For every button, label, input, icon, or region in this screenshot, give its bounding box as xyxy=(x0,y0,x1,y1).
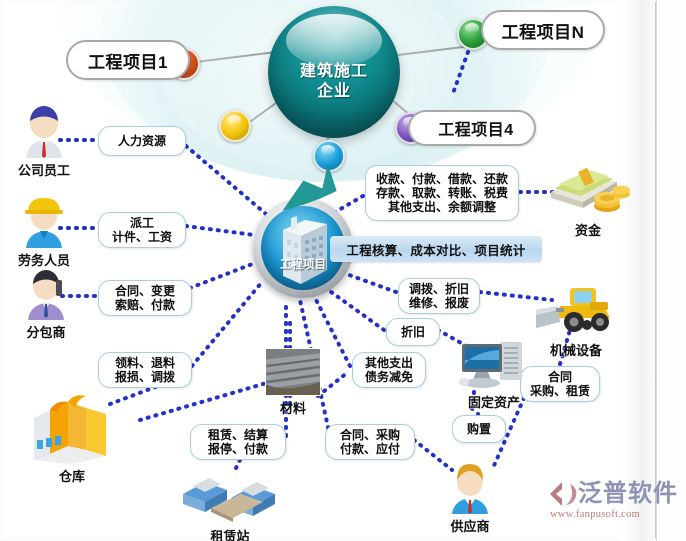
person-supplier-icon xyxy=(441,462,499,514)
callout-depreciation-line1: 折旧 xyxy=(401,325,425,339)
watermark-brand-row: 泛普软件 xyxy=(548,480,680,508)
money-stack-icon xyxy=(545,162,631,218)
callout-purchase[interactable]: 购置 xyxy=(452,415,506,443)
enterprise-hub-sphere: 建筑施工 企业 xyxy=(268,6,400,138)
entity-rental-station[interactable]: 租赁站 xyxy=(172,468,288,541)
worker-helmet-icon xyxy=(16,196,72,248)
entity-labor-worker-label: 劳务人员 xyxy=(8,250,80,269)
project-label-n[interactable]: 工程项目N xyxy=(481,10,605,50)
entity-company-staff-label: 公司员工 xyxy=(8,160,80,179)
callout-fund-operations[interactable]: 收款、付款、借款、还款 存款、取款、转账、税费 其他支出、余额调整 xyxy=(365,165,519,221)
callout-rental-station[interactable]: 租赁、结算 报停、付款 xyxy=(190,424,286,460)
entity-material-label: 材料 xyxy=(262,398,324,417)
callout-human-resource-line1: 人力资源 xyxy=(118,134,166,148)
callout-labor-dispatch-line1: 派工 xyxy=(130,216,154,230)
entity-fund[interactable]: 资金 xyxy=(542,162,634,239)
accounting-banner-text: 工程核算、成本对比、项目统计 xyxy=(346,240,525,259)
callout-depreciation[interactable]: 折旧 xyxy=(386,318,440,346)
diagram-canvas: 建筑施工 企业 工程项目1 工程项目N 工程项目4 xyxy=(0,0,686,541)
accounting-banner[interactable]: 工程核算、成本对比、项目统计 xyxy=(330,236,542,262)
entity-labor-worker[interactable]: 劳务人员 xyxy=(8,196,80,269)
computer-icon xyxy=(456,338,532,390)
callout-other-expense-line2: 债务减免 xyxy=(365,370,413,384)
hub-title-line1: 建筑施工 xyxy=(268,62,400,82)
callout-material-flow-line1: 领料、退料 xyxy=(115,356,175,370)
callout-material-flow[interactable]: 领料、退料 报损、调拨 xyxy=(98,352,192,388)
entity-subcontractor-label: 分包商 xyxy=(8,322,84,341)
entity-material[interactable]: 材料 xyxy=(262,348,324,417)
callout-purchase-line1: 购置 xyxy=(467,422,491,436)
fanpu-logo-icon xyxy=(548,480,578,508)
depot-icon xyxy=(175,468,285,524)
project-label-n-text: 工程项目N xyxy=(502,18,585,43)
callout-supplier-contract-line1: 合同、采购 xyxy=(340,428,400,442)
entity-warehouse[interactable]: 仓库 xyxy=(22,388,122,485)
entity-machinery[interactable]: 机械设备 xyxy=(528,282,624,359)
callout-other-expense-line1: 其他支出 xyxy=(365,356,413,370)
callout-subcontract-line1: 合同、变更 xyxy=(115,284,175,298)
person-blue-icon xyxy=(16,106,72,158)
callout-subcontract[interactable]: 合同、变更 索赔、付款 xyxy=(98,280,192,316)
project-label-1-text: 工程项目1 xyxy=(88,48,168,73)
callout-fund-operations-line3: 其他支出、余额调整 xyxy=(388,200,496,214)
callout-rental-station-line2: 报停、付款 xyxy=(208,442,268,456)
callout-equipment-ops[interactable]: 调拨、折旧 维修、报废 xyxy=(398,278,480,314)
rebar-photo-icon xyxy=(265,348,321,396)
callout-supplier-contract-line2: 付款、应付 xyxy=(340,442,400,456)
entity-supplier[interactable]: 供应商 xyxy=(432,462,508,535)
watermark-brand-text: 泛普软件 xyxy=(578,481,678,507)
callout-fund-operations-line1: 收款、付款、借款、还款 xyxy=(376,172,508,186)
callout-equipment-ops-line2: 维修、报废 xyxy=(409,296,469,310)
teal-arrow-icon xyxy=(278,160,358,212)
callout-other-expense[interactable]: 其他支出 债务减免 xyxy=(352,352,426,388)
entity-fund-label: 资金 xyxy=(542,220,634,239)
project-label-1[interactable]: 工程项目1 xyxy=(66,40,190,80)
enterprise-hub-title: 建筑施工 企业 xyxy=(268,62,400,102)
project-node-dot-yellow[interactable] xyxy=(219,110,251,142)
callout-rental-station-line1: 租赁、结算 xyxy=(208,428,268,442)
callout-supplier-contract[interactable]: 合同、采购 付款、应付 xyxy=(325,424,415,460)
project-hub-label: 工程项目 xyxy=(253,256,353,272)
callout-equipment-contract-line2: 采购、租赁 xyxy=(530,384,590,398)
callout-equipment-ops-line1: 调拨、折旧 xyxy=(409,282,469,296)
entity-subcontractor[interactable]: 分包商 xyxy=(8,268,84,341)
watermark-url: www.fanpusoft.com xyxy=(550,509,680,520)
callout-fund-operations-line2: 存款、取款、转账、税费 xyxy=(376,186,508,200)
callout-subcontract-line2: 索赔、付款 xyxy=(115,298,175,312)
entity-warehouse-label: 仓库 xyxy=(22,466,122,485)
callout-equipment-contract-line1: 合同 xyxy=(548,370,572,384)
callout-human-resource[interactable]: 人力资源 xyxy=(98,126,186,156)
person-phone-icon xyxy=(17,268,75,320)
factory-icon xyxy=(24,388,120,464)
project-label-4[interactable]: 工程项目4 xyxy=(408,110,536,146)
entity-machinery-label: 机械设备 xyxy=(528,340,624,359)
callout-material-flow-line2: 报损、调拨 xyxy=(115,370,175,384)
watermark: 泛普软件 www.fanpusoft.com xyxy=(548,480,680,520)
entity-company-staff[interactable]: 公司员工 xyxy=(8,106,80,179)
project-label-4-text: 工程项目4 xyxy=(438,116,513,140)
entity-fixed-asset[interactable]: 固定资产 xyxy=(452,338,536,411)
callout-labor-dispatch-line2: 计件、工资 xyxy=(112,230,172,244)
hub-title-line2: 企业 xyxy=(268,82,400,102)
callout-labor-dispatch[interactable]: 派工 计件、工资 xyxy=(98,212,186,248)
entity-supplier-label: 供应商 xyxy=(432,516,508,535)
entity-fixed-asset-label: 固定资产 xyxy=(452,392,536,411)
bulldozer-icon xyxy=(530,282,622,338)
entity-rental-station-label: 租赁站 xyxy=(172,526,288,541)
